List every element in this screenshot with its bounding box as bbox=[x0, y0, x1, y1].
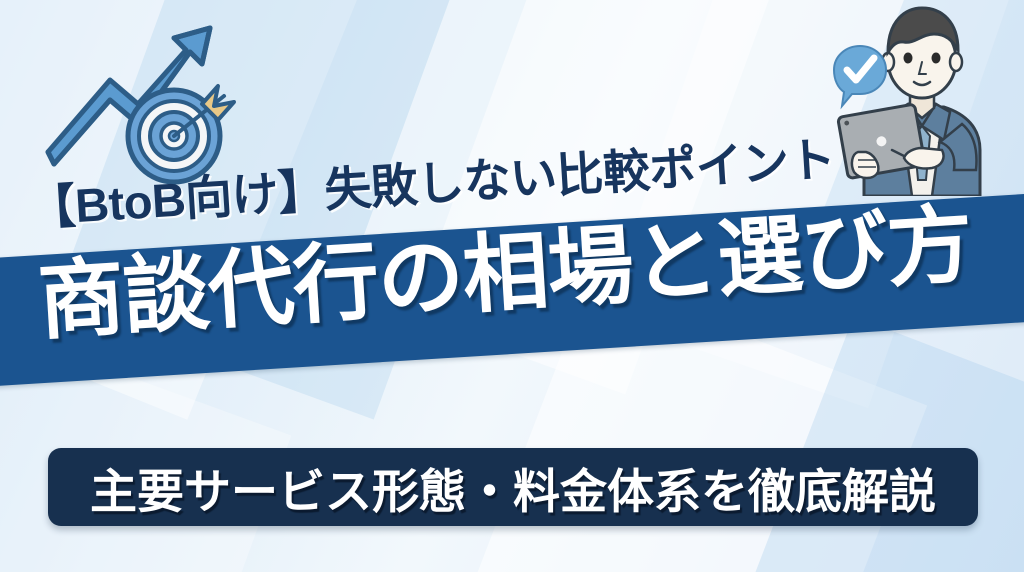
sub-bar-text: 主要サービス形態・料金体系を徹底解説 bbox=[90, 453, 936, 522]
banner-image: 【BtoB向け】失敗しない比較ポイント 商談代行の相場と選び方 主要サービス形態… bbox=[0, 0, 1024, 572]
sub-bar: 主要サービス形態・料金体系を徹底解説 bbox=[48, 448, 978, 526]
